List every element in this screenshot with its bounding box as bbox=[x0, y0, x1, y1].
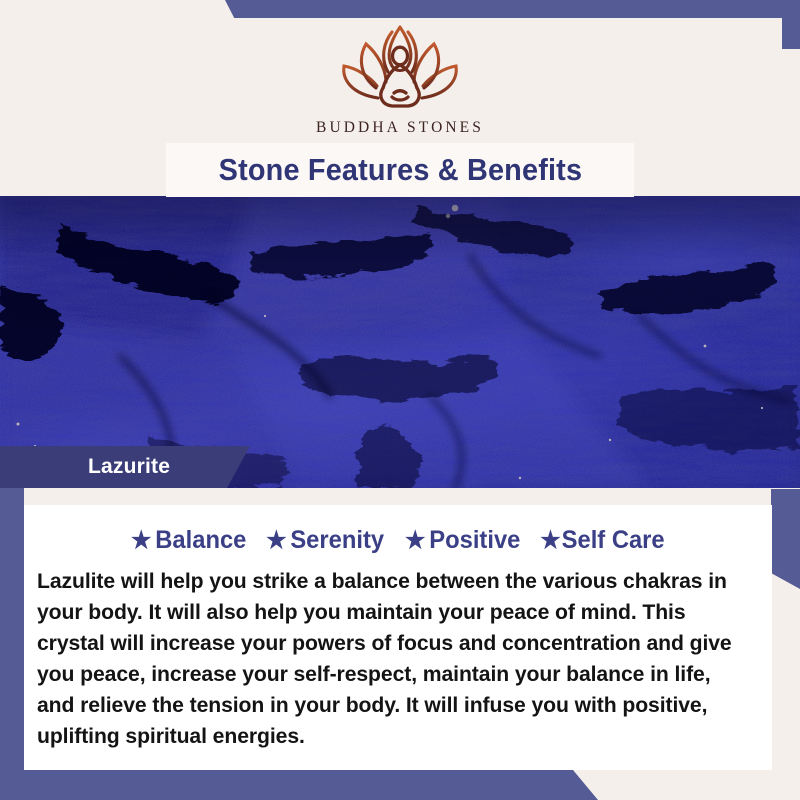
keyword-self-care: ★ Self Care bbox=[540, 526, 664, 555]
keyword-label: Balance bbox=[155, 526, 246, 555]
keyword-positive: ★ Positive bbox=[405, 526, 520, 555]
star-icon: ★ bbox=[267, 529, 287, 553]
keyword-label: Positive bbox=[429, 526, 520, 555]
star-icon: ★ bbox=[540, 529, 560, 553]
keyword-serenity: ★ Serenity bbox=[267, 526, 385, 555]
brand-name: BUDDHA STONES bbox=[316, 119, 484, 137]
poster-root: BUDDHA STONES Stone Features & Benefits bbox=[0, 0, 800, 800]
keyword-list: ★ Balance ★ Serenity ★ Positive ★ Self C… bbox=[37, 526, 759, 555]
keyword-label: Self Care bbox=[562, 526, 665, 555]
lotus-meditation-icon bbox=[336, 22, 464, 114]
stone-photo bbox=[0, 196, 800, 488]
stone-name-label: Lazurite bbox=[88, 455, 170, 479]
brand-logo: BUDDHA STONES bbox=[0, 22, 800, 137]
left-accent-strip bbox=[0, 488, 24, 770]
star-icon: ★ bbox=[131, 529, 151, 553]
right-accent-strip bbox=[771, 489, 800, 589]
stone-name-banner: Lazurite bbox=[0, 446, 250, 488]
title-plate: Stone Features & Benefits bbox=[166, 143, 634, 197]
content-card: ★ Balance ★ Serenity ★ Positive ★ Self C… bbox=[24, 505, 772, 770]
keyword-balance: ★ Balance bbox=[131, 526, 246, 555]
star-icon: ★ bbox=[405, 529, 425, 553]
bottom-accent-band bbox=[0, 770, 800, 800]
page-title: Stone Features & Benefits bbox=[218, 152, 582, 188]
keyword-label: Serenity bbox=[291, 526, 385, 555]
description-text: Lazulite will help you strike a balance … bbox=[37, 566, 748, 752]
